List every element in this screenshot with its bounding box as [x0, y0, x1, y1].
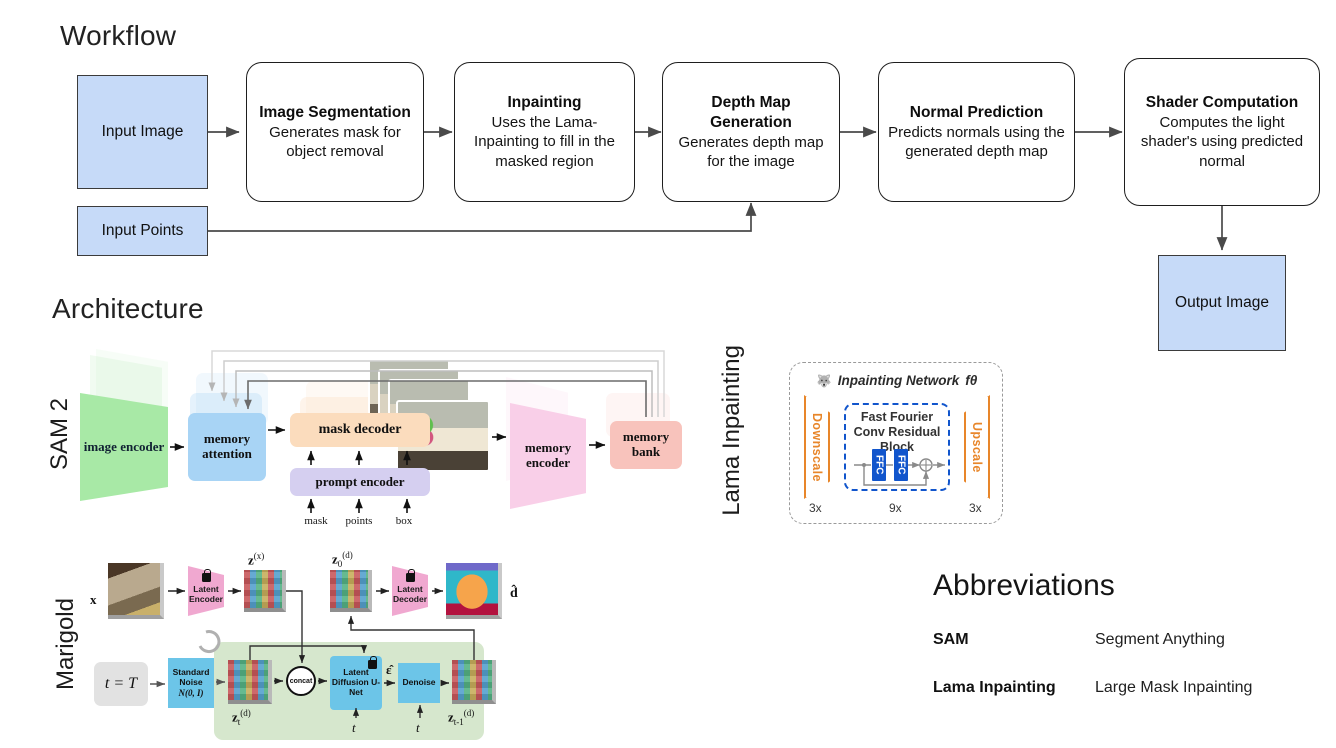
row-label-sam2: SAM 2	[46, 398, 74, 470]
lama-upscale-label: Upscale	[970, 422, 984, 473]
sam2-image-encoder-label: image encoder	[84, 440, 165, 455]
sam2-image-encoder[interactable]: image encoder	[80, 393, 168, 501]
marigold-latent-encoder-label: Latent Encoder	[188, 578, 224, 604]
marigold-concat-node: concat	[286, 666, 316, 696]
marigold-standard-noise[interactable]: Standard Noise N(0, I)	[168, 658, 214, 708]
sam2-memory-encoder[interactable]: memory encoder	[510, 403, 586, 509]
step-image-segmentation[interactable]: Image Segmentation Generates mask for ob…	[246, 62, 424, 202]
marigold-depth-output	[446, 563, 502, 619]
lama-downscale-block[interactable]: Downscale	[804, 395, 830, 499]
marigold-t-label-denoise: t	[416, 720, 420, 736]
lama-ffc-residual-block[interactable]: Fast Fourier Conv Residual Block FFC FFC	[844, 403, 950, 491]
marigold-ztm1-d-label: zt-1(d)	[448, 708, 474, 727]
lama-network-title: Inpainting Network	[838, 373, 960, 388]
lama-network-symbol: fθ	[965, 373, 977, 388]
marigold-z-x-tile	[244, 570, 286, 612]
sam2-prompt-points-label: points	[336, 515, 382, 527]
step-desc: Generates mask for object removal	[255, 123, 415, 161]
lama-upscale-repeat: 3x	[969, 501, 982, 515]
abbreviation-key: SAM	[933, 631, 1073, 649]
marigold-z0-d-tile	[330, 570, 372, 612]
step-title: Depth Map Generation	[671, 93, 831, 133]
lama-upscale-block[interactable]: Upscale	[964, 395, 990, 499]
sam2-memory-bank-label: memory bank	[610, 430, 682, 460]
marigold-noise-dist-label: N(0, I)	[179, 688, 204, 698]
lama-downscale-label: Downscale	[810, 413, 824, 482]
lama-inpainting-diagram: 🐺 Inpainting Network fθ Downscale Fast F…	[789, 362, 1003, 524]
sam2-memory-bank[interactable]: memory bank	[610, 421, 682, 469]
step-shader-computation[interactable]: Shader Computation Computes the light sh…	[1124, 58, 1320, 206]
step-depth-map-generation[interactable]: Depth Map Generation Generates depth map…	[662, 62, 840, 202]
ffc-block-1[interactable]: FFC	[872, 449, 886, 481]
step-normal-prediction[interactable]: Normal Prediction Predicts normals using…	[878, 62, 1075, 202]
row-label-marigold: Marigold	[52, 598, 80, 690]
abbreviation-key: Lama Inpainting	[933, 679, 1073, 697]
marigold-t-label-unet: t	[352, 720, 356, 736]
marigold-z-x-label: z(x)	[248, 551, 264, 568]
step-inpainting[interactable]: Inpainting Uses the Lama-Inpainting to f…	[454, 62, 635, 202]
lama-network-title-row: 🐺 Inpainting Network fθ	[790, 373, 1004, 388]
abbreviation-value: Large Mask Inpainting	[1095, 679, 1252, 697]
ffc-block-2[interactable]: FFC	[894, 449, 908, 481]
step-title: Shader Computation	[1146, 93, 1298, 113]
step-title: Inpainting	[507, 93, 581, 113]
lock-icon	[368, 660, 377, 669]
step-desc: Generates depth map for the image	[671, 133, 831, 171]
sam2-mask-decoder-label: mask decoder	[319, 422, 402, 438]
sam2-prompt-mask-label: mask	[296, 515, 336, 527]
sam2-memory-encoder-label: memory encoder	[510, 441, 586, 471]
marigold-zt-d-tile	[228, 660, 272, 704]
marigold-zt-d-label: zt(d)	[232, 708, 251, 727]
abbreviation-row-sam: SAM Segment Anything	[933, 631, 1225, 649]
marigold-denoise[interactable]: Denoise	[398, 663, 440, 703]
llama-icon: 🐺	[817, 374, 832, 388]
input-image-box[interactable]: Input Image	[77, 75, 208, 189]
sam2-diagram: image encoder memory attention mask deco…	[78, 345, 698, 535]
lama-ffc-block-title: Fast Fourier Conv Residual Block	[846, 405, 948, 455]
lock-icon	[406, 573, 415, 582]
lock-icon	[202, 573, 211, 582]
marigold-d-hat-label: d̂	[510, 586, 518, 602]
workflow-heading: Workflow	[60, 20, 176, 52]
step-desc: Uses the Lama-Inpainting to fill in the …	[463, 113, 626, 171]
sam2-memory-attention-label: memory attention	[188, 432, 266, 462]
step-desc: Predicts normals using the generated dep…	[887, 123, 1066, 161]
step-desc: Computes the light shader's using predic…	[1133, 113, 1311, 171]
lama-downscale-repeat: 3x	[809, 501, 822, 515]
marigold-denoise-label: Denoise	[402, 678, 435, 688]
marigold-ztm1-d-tile	[452, 660, 496, 704]
step-title: Normal Prediction	[910, 103, 1044, 123]
output-image-box[interactable]: Output Image	[1158, 255, 1286, 351]
sam2-prompt-encoder[interactable]: prompt encoder	[290, 468, 430, 496]
sam2-prompt-box-label: box	[384, 515, 424, 527]
sam2-mask-decoder[interactable]: mask decoder	[290, 413, 430, 447]
marigold-latent-decoder-label: Latent Decoder	[392, 578, 428, 604]
sam2-prompt-encoder-label: prompt encoder	[316, 475, 405, 490]
marigold-input-image	[108, 563, 164, 619]
abbreviation-row-lama: Lama Inpainting Large Mask Inpainting	[933, 679, 1252, 697]
marigold-unet-label: Latent Diffusion U-Net	[330, 668, 382, 697]
abbreviation-value: Segment Anything	[1095, 631, 1225, 649]
marigold-z0-d-label: z0(d)	[332, 550, 353, 569]
lama-block-repeat: 9x	[889, 501, 902, 515]
row-label-lama-inpainting: Lama Inpainting	[718, 345, 746, 516]
step-title: Image Segmentation	[259, 103, 411, 123]
sam2-memory-attention[interactable]: memory attention	[188, 413, 266, 481]
abbreviations-heading: Abbreviations	[933, 569, 1115, 603]
marigold-diagram: x Latent Encoder z(x) z0(d) Latent Decod…	[86, 550, 506, 748]
input-points-box[interactable]: Input Points	[77, 206, 208, 256]
marigold-epsilon-hat-label: ε̂	[386, 662, 392, 678]
marigold-input-label: x	[90, 592, 97, 608]
marigold-standard-noise-label: Standard Noise	[168, 668, 214, 688]
marigold-t-equals-T: t = T	[94, 662, 148, 706]
architecture-heading: Architecture	[52, 293, 204, 325]
